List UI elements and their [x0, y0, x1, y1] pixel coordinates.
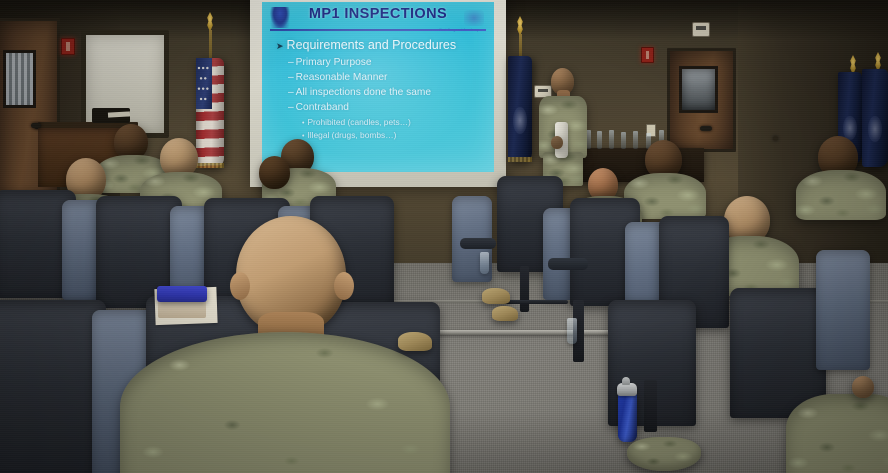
briefing-room-photo: First Sergeant Academy MP1 INSPECTIONS ➤… [0, 0, 888, 473]
flag-united-states [196, 58, 224, 168]
slide-bullet-5: •Prohibited (candles, pets…) [302, 117, 486, 127]
slide-body: ➤Requirements and Procedures –Primary Pu… [276, 38, 486, 143]
flag-fringe-us [196, 163, 224, 168]
slide-bullet-6: •Illegal (drugs, bombs…) [302, 130, 486, 140]
combat-boot-1 [482, 288, 510, 304]
bullet-marker-dash-2: – [288, 72, 294, 83]
window-blinds [6, 53, 33, 105]
seat-arm-mid-1 [460, 238, 496, 249]
slide-bullet-6-text: Illegal (drugs, bombs…) [307, 130, 396, 140]
flag-air-force-left [508, 56, 532, 162]
slide-bullet-1: –Primary Purpose [288, 57, 486, 68]
slide-title: MP1 INSPECTIONS [262, 6, 494, 22]
attendee-uniform-r1f [796, 170, 886, 220]
slide-bullet-2: –Reasonable Manner [288, 72, 486, 83]
presenter-hand [551, 136, 563, 149]
wall-screw-right [773, 136, 778, 141]
attendee-hand-bottom-right [852, 376, 874, 398]
seat-side-right-1[interactable] [816, 250, 870, 370]
slide-bullet-1-text: Primary Purpose [296, 57, 372, 68]
door-right-handle[interactable] [700, 126, 712, 131]
combat-boot-2 [398, 332, 432, 351]
seat-leg-mid-1 [520, 266, 529, 312]
lectern-mic [31, 123, 41, 128]
slide-bullet-3: –All inspections done the same [288, 87, 486, 98]
flag-emblem-right-b [868, 116, 883, 141]
door-right-window [679, 66, 718, 113]
foreground-attendee-uniform [120, 332, 450, 473]
slide-bullet-5-text: Prohibited (candles, pets…) [307, 117, 410, 127]
water-bottle-blue[interactable] [618, 392, 637, 442]
bullet-marker-dash-3: – [288, 87, 294, 98]
slide-bullet-2-text: Reasonable Manner [296, 72, 388, 83]
door-left-window [3, 50, 36, 108]
bullet-marker-arrow: ➤ [276, 41, 284, 51]
back-table-bottle-3 [609, 130, 614, 149]
slide-bullet-0-text: Requirements and Procedures [287, 38, 457, 52]
combat-boot-3 [492, 306, 518, 321]
slide-bullet-3-text: All inspections done the same [296, 87, 431, 98]
patrol-cap[interactable] [627, 437, 701, 471]
back-table-bottle-5 [633, 131, 638, 149]
water-bottle-spout [622, 377, 630, 385]
fire-alarm-sign-left [61, 38, 75, 55]
foreground-attendee-ear-left [230, 272, 250, 300]
flag-union-stars [196, 58, 212, 109]
wall-speaker-right [692, 22, 710, 37]
water-glass-aisle [480, 252, 489, 274]
foreground-attendee-ear-right [334, 272, 354, 300]
back-table-bottle-4 [621, 132, 626, 149]
food-container-lid[interactable] [157, 286, 207, 302]
fire-alarm-sign-right [641, 47, 654, 63]
seat-back-front-1[interactable] [0, 300, 106, 473]
attendee-uniform-bottom-right [786, 394, 888, 473]
back-table-bottle-2 [597, 131, 602, 149]
water-glass-aisle-2 [567, 318, 577, 344]
bullet-marker-dash-1: – [288, 57, 294, 68]
bullet-marker-dot-5: • [302, 120, 304, 127]
flag-service-right-b [862, 69, 888, 167]
slide-bullet-0: ➤Requirements and Procedures [276, 38, 486, 52]
seat-arm-mid-2 [548, 258, 588, 270]
attendee-head-r1d [259, 156, 290, 189]
slide-bullet-4-text: Contraband [296, 102, 349, 113]
flag-fringe-af [508, 157, 532, 162]
slide-title-rule [270, 29, 486, 31]
air-force-flag-emblem [513, 107, 526, 135]
slide-bullet-4: –Contraband [288, 102, 486, 113]
seat-leg-right-1 [644, 380, 657, 432]
bullet-marker-dash-4: – [288, 102, 294, 113]
